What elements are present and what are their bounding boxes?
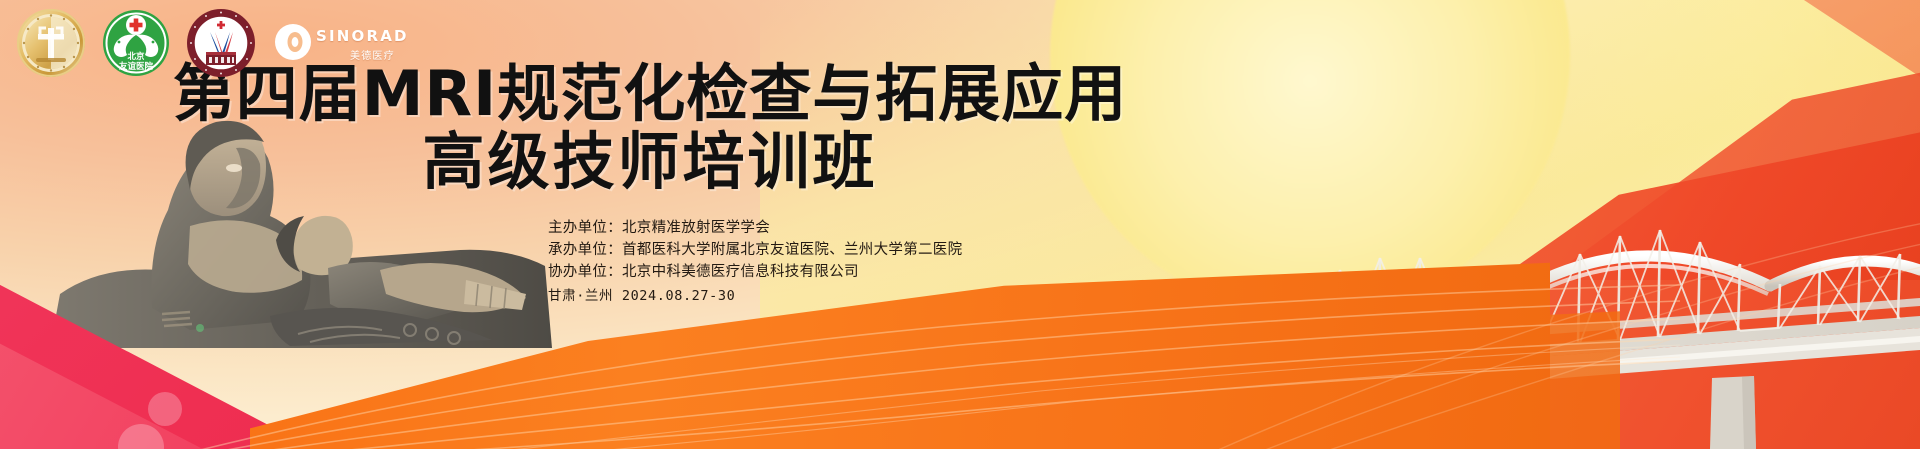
info-place-and-date: 甘肃·兰州 2024.08.27-30 (548, 286, 962, 307)
logo-row: 北京 友谊医院 (16, 8, 409, 83)
conference-banner: 北京 友谊医院 (0, 0, 1920, 449)
lanzhou-university-second-hospital-logo (186, 8, 256, 83)
beijing-friendship-hospital-logo: 北京 友谊医院 (102, 9, 170, 82)
decorative-dot-1 (148, 392, 182, 426)
banner-title-line-2: 高级技师培训班 (0, 126, 1300, 198)
info-co-organizer: 协办单位：北京中科美德医疗信息科技有限公司 (548, 262, 962, 283)
svg-text:友谊医院: 友谊医院 (118, 61, 154, 72)
sinorad-wordmark-en: SINORAD (316, 29, 409, 44)
beijing-precision-radiology-society-logo (16, 8, 86, 83)
sinorad-logo: SINORAD 美德医疗 (272, 22, 409, 70)
sinorad-mark-icon (272, 22, 314, 70)
info-host: 承办单位：首都医科大学附属北京友谊医院、兰州大学第二医院 (548, 240, 962, 261)
banner-info-block: 主办单位：北京精准放射医学学会 承办单位：首都医科大学附属北京友谊医院、兰州大学… (548, 218, 962, 308)
sinorad-wordmark-cn: 美德医疗 (350, 47, 395, 62)
svg-text:北京: 北京 (127, 51, 145, 62)
info-organizer: 主办单位：北京精准放射医学学会 (548, 218, 962, 239)
